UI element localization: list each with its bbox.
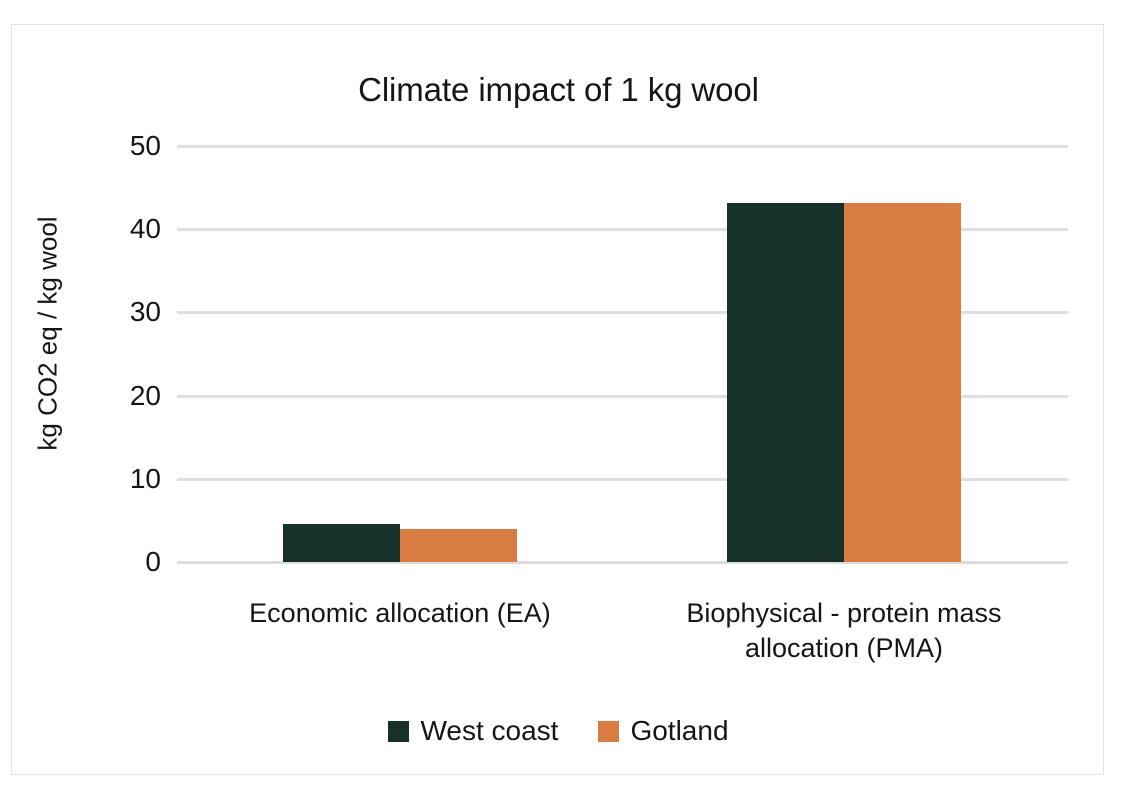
plot-area: 50403020100 bbox=[177, 146, 1068, 562]
y-tick-label-30: 30 bbox=[130, 296, 161, 328]
x-category-label-0-line-0: Economic allocation (EA) bbox=[190, 596, 610, 631]
y-tick-label-20: 20 bbox=[130, 380, 161, 412]
chart-frame: Climate impact of 1 kg wool kg CO2 eq / … bbox=[11, 24, 1104, 775]
y-tick-label-50: 50 bbox=[130, 130, 161, 162]
bar-gotland-0[interactable] bbox=[400, 529, 517, 562]
chart-screenshot: Climate impact of 1 kg wool kg CO2 eq / … bbox=[0, 0, 1128, 786]
gridline-50 bbox=[177, 145, 1068, 148]
legend-swatch-icon bbox=[388, 721, 409, 742]
legend-item-west-coast[interactable]: West coast bbox=[388, 715, 558, 747]
y-tick-label-10: 10 bbox=[130, 463, 161, 495]
legend-item-gotland[interactable]: Gotland bbox=[598, 715, 728, 747]
y-axis-title: kg CO2 eq / kg wool bbox=[33, 194, 64, 474]
x-category-label-1: Biophysical - protein massallocation (PM… bbox=[634, 596, 1054, 666]
legend-label: Gotland bbox=[630, 715, 728, 747]
x-category-label-1-line-1: allocation (PMA) bbox=[634, 631, 1054, 666]
legend-label: West coast bbox=[420, 715, 558, 747]
bar-gotland-1[interactable] bbox=[844, 203, 961, 562]
x-category-label-0: Economic allocation (EA) bbox=[190, 596, 610, 631]
bar-west-coast-0[interactable] bbox=[283, 524, 400, 562]
legend: West coastGotland bbox=[12, 715, 1105, 747]
y-tick-label-0: 0 bbox=[145, 546, 161, 578]
y-tick-label-40: 40 bbox=[130, 213, 161, 245]
chart-title: Climate impact of 1 kg wool bbox=[12, 71, 1105, 109]
bar-west-coast-1[interactable] bbox=[727, 203, 844, 562]
legend-swatch-icon bbox=[598, 721, 619, 742]
x-category-label-1-line-0: Biophysical - protein mass bbox=[634, 596, 1054, 631]
